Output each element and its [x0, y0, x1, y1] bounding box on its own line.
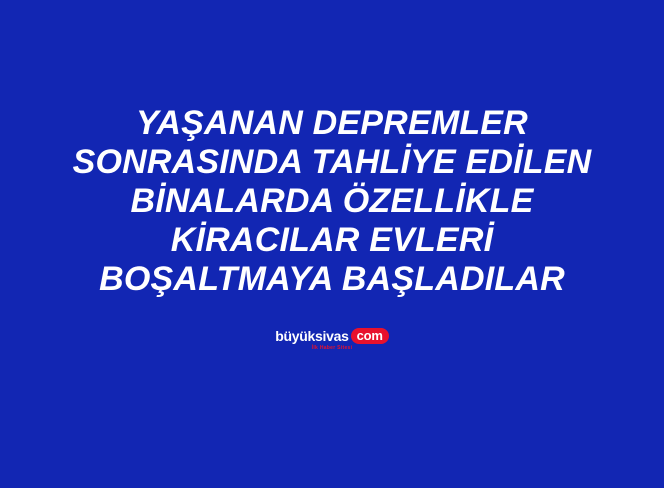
headline-line-3: BİNALARDA ÖZELLİKLE	[0, 182, 664, 221]
headline-line-5: BOŞALTMAYA BAŞLADILAR	[0, 260, 664, 299]
headline-line-1: YAŞANAN DEPREMLER	[0, 104, 664, 143]
headline-block: YAŞANAN DEPREMLER SONRASINDA TAHLİYE EDİ…	[0, 104, 664, 299]
headline-line-2: SONRASINDA TAHLİYE EDİLEN	[0, 143, 664, 182]
brand-logo[interactable]: büyüksivas com İlk Haber Sitesi	[0, 328, 664, 351]
news-poster: YAŞANAN DEPREMLER SONRASINDA TAHLİYE EDİ…	[0, 0, 664, 488]
logo-tagline: İlk Haber Sitesi	[312, 345, 353, 351]
logo-row: büyüksivas com	[275, 328, 388, 344]
logo-wordmark: büyüksivas	[275, 329, 348, 343]
logo-com-badge: com	[351, 328, 389, 344]
headline-line-4: KİRACILAR EVLERİ	[0, 221, 664, 260]
